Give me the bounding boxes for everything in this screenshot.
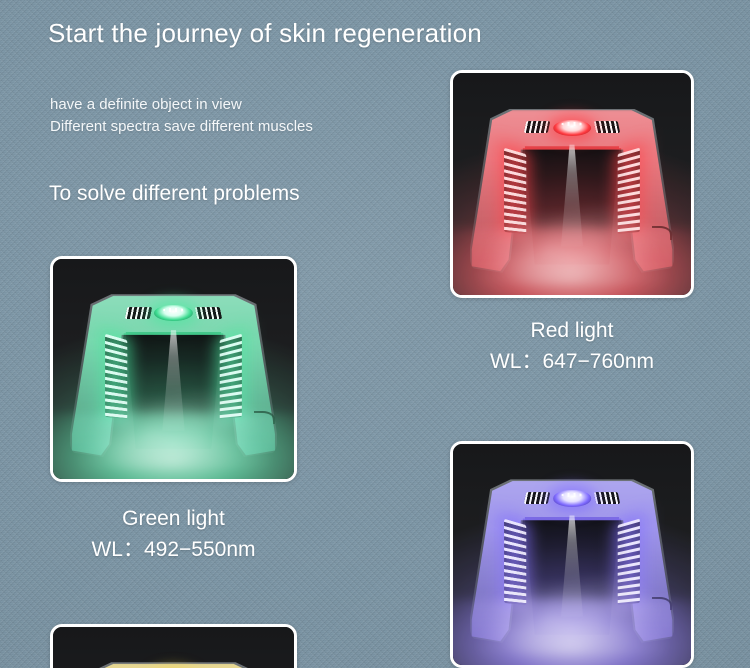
- caption-green: Green light WL：492−550nm: [50, 504, 297, 566]
- photo-scene: [53, 259, 294, 479]
- subcopy-block: have a definite object in view Different…: [50, 94, 313, 138]
- photo-scene: [453, 444, 691, 665]
- subcopy-line-2: Different spectra save different muscles: [50, 116, 313, 138]
- caption-red: Red light WL：647−760nm: [450, 316, 694, 378]
- page-headline: Start the journey of skin regeneration: [48, 18, 482, 49]
- ambient-color-wash: [453, 73, 691, 295]
- product-photo-red: [450, 70, 694, 298]
- ambient-color-wash: [453, 444, 691, 665]
- product-wavelength-green: WL：492−550nm: [50, 534, 297, 566]
- subcopy-line-1: have a definite object in view: [50, 94, 313, 116]
- photo-scene: [453, 73, 691, 295]
- product-photo-amber: [50, 624, 297, 668]
- photo-scene: [53, 627, 294, 668]
- product-photo-blue: [450, 441, 694, 668]
- product-wavelength-red: WL：647−760nm: [450, 346, 694, 378]
- page-tagline: To solve different problems: [49, 182, 300, 206]
- product-name-red: Red light: [450, 316, 694, 346]
- ambient-color-wash: [53, 627, 294, 668]
- product-photo-green: [50, 256, 297, 482]
- product-marketing-page: Start the journey of skin regeneration h…: [0, 0, 750, 668]
- ambient-color-wash: [53, 259, 294, 479]
- product-name-green: Green light: [50, 504, 297, 534]
